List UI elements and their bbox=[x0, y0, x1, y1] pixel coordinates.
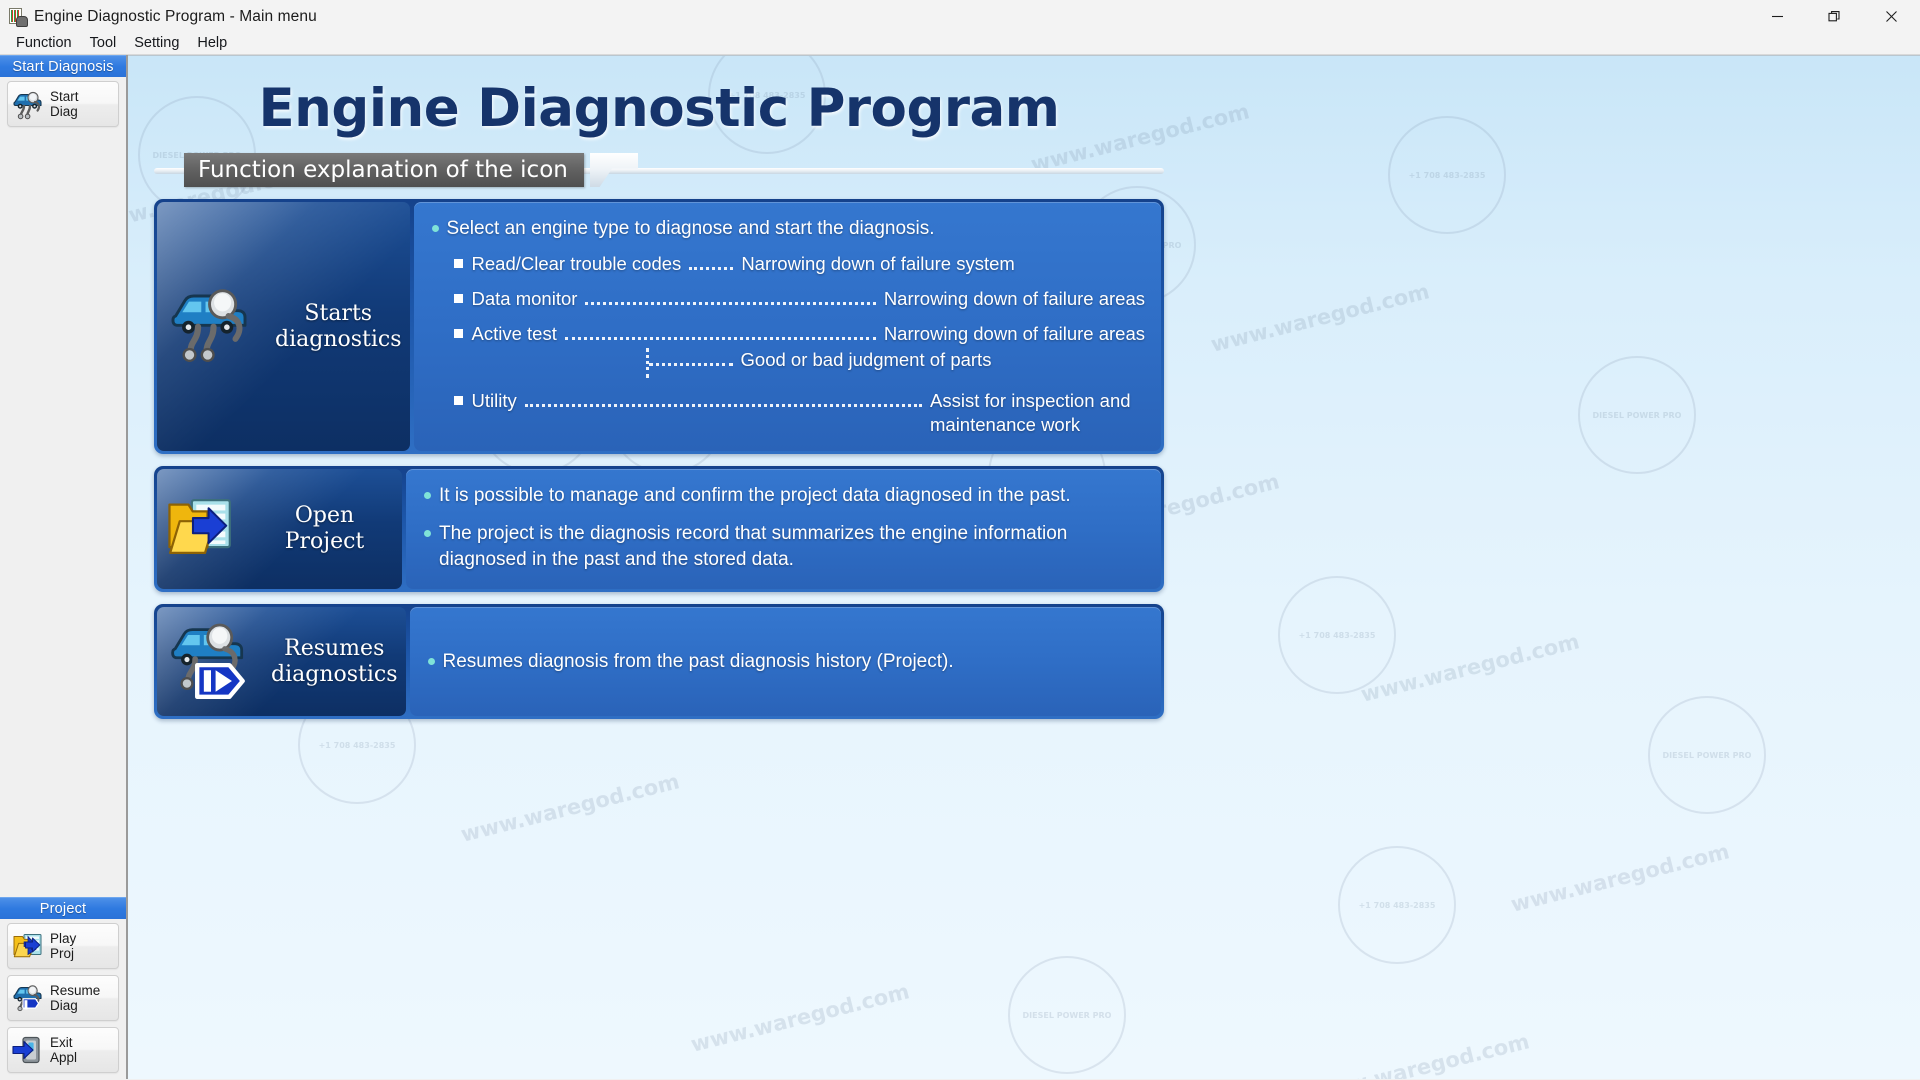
feature-desc: Good or bad judgment of parts bbox=[741, 348, 992, 372]
feature-row-active-test: Active test Narrowing down of failure ar… bbox=[432, 322, 1145, 346]
feature-desc: Narrowing down of failure areas bbox=[884, 322, 1145, 346]
sidebar-item-resume-diag[interactable]: Resume Diag bbox=[7, 975, 119, 1021]
card-paragraph: It is possible to manage and confirm the… bbox=[424, 483, 1145, 509]
bullet-dot-icon bbox=[424, 492, 431, 499]
bullet-square-icon bbox=[454, 396, 463, 405]
sidebar-spacer bbox=[0, 133, 126, 897]
card-resumes-diagnostics-icon-area[interactable]: Resumes diagnostics bbox=[157, 607, 406, 716]
minimize-button[interactable] bbox=[1749, 0, 1806, 33]
feature-desc-line1: Assist for inspection and bbox=[930, 390, 1131, 411]
sidebar-group-header-project: Project bbox=[0, 897, 126, 919]
watermark-stamp: +1 708 483-2835 bbox=[1338, 846, 1456, 964]
feature-label: Data monitor bbox=[472, 287, 578, 311]
sidebar-group-start-diagnosis: Start Diag bbox=[0, 77, 126, 133]
card-resumes-diagnostics[interactable]: Resumes diagnostics Resumes diagnosis fr… bbox=[154, 604, 1164, 719]
caption-line1: Open Project bbox=[285, 503, 365, 554]
close-button[interactable] bbox=[1863, 0, 1920, 33]
sidebar-group-project: Play Proj bbox=[0, 919, 126, 1079]
card-starts-diagnostics-caption: Starts diagnostics bbox=[275, 301, 402, 353]
watermark-text: www.waregod.com bbox=[1308, 1029, 1531, 1079]
car-stethoscope-icon bbox=[8, 88, 50, 120]
feature-label: Read/Clear trouble codes bbox=[472, 252, 682, 276]
resume-diag-line1: Resume bbox=[50, 983, 100, 998]
bullet-square-icon bbox=[454, 294, 463, 303]
watermark-text: www.waregod.com bbox=[1508, 839, 1731, 917]
bullet-square-icon bbox=[454, 259, 463, 268]
card-starts-diagnostics-icon-area[interactable]: Starts diagnostics bbox=[157, 202, 410, 451]
feature-label: Utility bbox=[472, 389, 517, 413]
feature-desc: Narrowing down of failure system bbox=[741, 252, 1015, 276]
leader-dots bbox=[525, 389, 922, 413]
bullet-dot-icon bbox=[432, 225, 439, 232]
sidebar-item-play-proj-label: Play Proj bbox=[50, 931, 76, 961]
card-resumes-diagnostics-caption: Resumes diagnostics bbox=[271, 636, 398, 688]
card-starts-diagnostics-body: Select an engine type to diagnose and st… bbox=[414, 202, 1161, 451]
caption-line1: Starts bbox=[304, 301, 372, 326]
workspace: Start Diagnosis bbox=[0, 55, 1920, 1079]
card-open-project-caption: Open Project bbox=[255, 503, 394, 555]
window-title: Engine Diagnostic Program - Main menu bbox=[34, 8, 317, 26]
sidebar-group-header-start-diagnosis: Start Diagnosis bbox=[0, 55, 126, 77]
sidebar-item-start-diag[interactable]: Start Diag bbox=[7, 81, 119, 127]
menubar: Function Tool Setting Help bbox=[0, 33, 1920, 55]
menu-item-help[interactable]: Help bbox=[188, 34, 236, 53]
card-open-project[interactable]: Open Project It is possible to manage an… bbox=[154, 466, 1164, 592]
card-open-project-icon-area[interactable]: Open Project bbox=[157, 469, 402, 589]
window-titlebar: Engine Diagnostic Program - Main menu bbox=[0, 0, 1920, 33]
leader-dots bbox=[689, 252, 733, 276]
resume-diag-line2: Diag bbox=[50, 998, 78, 1013]
feature-desc: Assist for inspection and maintenance wo… bbox=[930, 389, 1145, 437]
card-intro-line: Select an engine type to diagnose and st… bbox=[432, 216, 1145, 241]
card-starts-diagnostics[interactable]: Starts diagnostics Select an engine type… bbox=[154, 199, 1164, 454]
card-resumes-diagnostics-body: Resumes diagnosis from the past diagnosi… bbox=[410, 607, 1161, 716]
caption-line2: diagnostics bbox=[271, 662, 398, 687]
restore-button[interactable] bbox=[1806, 0, 1863, 33]
watermark-text: www.waregod.com bbox=[688, 979, 911, 1057]
feature-row-judgment: Good or bad judgment of parts bbox=[432, 348, 1145, 378]
car-resume-icon bbox=[8, 982, 50, 1014]
menu-item-setting[interactable]: Setting bbox=[125, 34, 188, 53]
bullet-square-icon bbox=[454, 329, 463, 338]
app-icon bbox=[9, 8, 27, 26]
page-title: Engine Diagnostic Program bbox=[154, 78, 1164, 139]
card-open-project-body: It is possible to manage and confirm the… bbox=[406, 469, 1161, 589]
sidebar: Start Diagnosis bbox=[0, 55, 128, 1079]
feature-desc-line2: maintenance work bbox=[930, 414, 1080, 435]
watermark-text: www.waregod.com bbox=[458, 769, 681, 847]
folder-play-icon bbox=[8, 930, 50, 962]
main-content: Engine Diagnostic Program Function expla… bbox=[128, 56, 1920, 719]
car-stethoscope-icon bbox=[165, 279, 261, 374]
sidebar-item-play-proj[interactable]: Play Proj bbox=[7, 923, 119, 969]
card-paragraph: The project is the diagnosis record that… bbox=[424, 521, 1145, 573]
bullet-dot-icon bbox=[424, 530, 431, 537]
play-proj-line1: Play bbox=[50, 931, 76, 946]
start-diag-line1: Start bbox=[50, 89, 79, 104]
leader-dots bbox=[565, 322, 876, 346]
exit-appl-line2: Appl bbox=[50, 1050, 77, 1065]
sidebar-item-resume-diag-label: Resume Diag bbox=[50, 983, 100, 1013]
folder-play-icon bbox=[165, 491, 241, 568]
menu-item-tool[interactable]: Tool bbox=[81, 34, 126, 53]
ribbon-banner: Function explanation of the icon bbox=[154, 153, 1164, 187]
exit-door-icon bbox=[8, 1034, 50, 1066]
leader-dots bbox=[585, 287, 875, 311]
feature-row-utility: Utility Assist for inspection and mainte… bbox=[432, 389, 1145, 437]
main-panel: www.waregod.com www.waregod.com www.ware… bbox=[128, 55, 1920, 1079]
sidebar-item-exit-appl[interactable]: Exit Appl bbox=[7, 1027, 119, 1073]
car-resume-icon bbox=[165, 617, 257, 706]
watermark-stamp: DIESEL POWER PRO bbox=[1008, 956, 1126, 1074]
card-paragraph: Resumes diagnosis from the past diagnosi… bbox=[428, 649, 954, 675]
feature-label: Active test bbox=[472, 322, 557, 346]
bullet-dot-icon bbox=[428, 658, 435, 665]
window-controls bbox=[1749, 0, 1920, 33]
play-proj-line2: Proj bbox=[50, 946, 74, 961]
sidebar-item-exit-appl-label: Exit Appl bbox=[50, 1035, 77, 1065]
feature-row-data-monitor: Data monitor Narrowing down of failure a… bbox=[432, 287, 1145, 311]
ribbon-label: Function explanation of the icon bbox=[184, 153, 584, 187]
feature-desc: Narrowing down of failure areas bbox=[884, 287, 1145, 311]
exit-appl-line1: Exit bbox=[50, 1035, 73, 1050]
sidebar-item-start-diag-label: Start Diag bbox=[50, 89, 79, 119]
menu-item-function[interactable]: Function bbox=[7, 34, 81, 53]
start-diag-line2: Diag bbox=[50, 104, 78, 119]
leader-dots bbox=[649, 348, 733, 372]
cards-container: Starts diagnostics Select an engine type… bbox=[154, 199, 1164, 719]
caption-line1: Resumes bbox=[284, 636, 384, 661]
caption-line2: diagnostics bbox=[275, 327, 402, 352]
feature-row-read-clear-trouble-codes: Read/Clear trouble codes Narrowing down … bbox=[432, 252, 1145, 276]
